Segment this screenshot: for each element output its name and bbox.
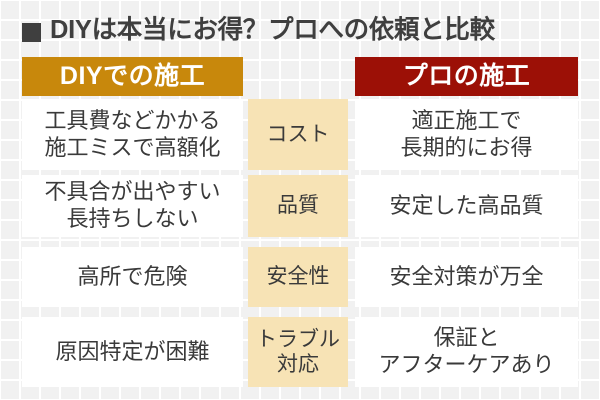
table-row: 原因特定が困難 トラブル 対応 保証と アフターケアあり xyxy=(22,317,578,387)
page-title-text: DIYは本当にお得？プロへの依頼と比較 xyxy=(50,18,495,44)
cell-diy-quality: 不具合が出やすい 長持ちしない xyxy=(22,175,243,237)
table-row: 不具合が出やすい 長持ちしない 品質 安定した高品質 xyxy=(22,175,578,237)
cell-category-quality: 品質 xyxy=(248,175,348,237)
cell-pro-quality: 安定した高品質 xyxy=(355,175,578,237)
cell-line: アフターケアあり xyxy=(378,352,554,379)
cell-line: 保証と xyxy=(378,325,554,352)
cell-line: トラブル xyxy=(256,327,340,352)
table-row: 高所で危険 安全性 安全対策が万全 xyxy=(22,247,578,307)
comparison-table: 工具費などかかる 施工ミスで高額化 コスト 適正施工で 長期的にお得 不具合が出… xyxy=(22,99,578,392)
cell-line: 安定した高品質 xyxy=(389,193,543,220)
cell-diy-cost: 工具費などかかる 施工ミスで高額化 xyxy=(22,99,243,170)
cell-diy-safety: 高所で危険 xyxy=(22,247,243,307)
cell-line: 品質 xyxy=(277,193,319,218)
column-header-pro: プロの施工 xyxy=(355,57,578,96)
cell-line: 工具費などかかる xyxy=(44,108,220,135)
cell-line: 安全性 xyxy=(267,264,330,289)
square-bullet-icon xyxy=(22,23,41,42)
cell-category-safety: 安全性 xyxy=(248,247,348,307)
cell-line: 適正施工で xyxy=(400,108,532,135)
cell-line: 高所で危険 xyxy=(77,264,187,291)
cell-category-trouble: トラブル 対応 xyxy=(248,317,348,387)
cell-line: コスト xyxy=(267,122,330,147)
column-header-pro-label: プロの施工 xyxy=(403,64,531,89)
cell-line: 長持ちしない xyxy=(44,206,220,233)
cell-line: 長期的にお得 xyxy=(400,135,532,162)
cell-diy-trouble: 原因特定が困難 xyxy=(22,317,243,387)
cell-line: 施工ミスで高額化 xyxy=(44,135,220,162)
cell-category-cost: コスト xyxy=(248,99,348,170)
column-header-diy: DIYでの施工 xyxy=(22,57,243,96)
cell-pro-cost: 適正施工で 長期的にお得 xyxy=(355,99,578,170)
cell-line: 不具合が出やすい xyxy=(44,179,220,206)
cell-line: 原因特定が困難 xyxy=(55,339,209,366)
table-row: 工具費などかかる 施工ミスで高額化 コスト 適正施工で 長期的にお得 xyxy=(22,99,578,170)
page-title: DIYは本当にお得？プロへの依頼と比較 xyxy=(22,11,578,51)
column-header-diy-label: DIYでの施工 xyxy=(60,64,205,89)
cell-line: 対応 xyxy=(256,352,340,377)
cell-pro-trouble: 保証と アフターケアあり xyxy=(355,317,578,387)
cell-pro-safety: 安全対策が万全 xyxy=(355,247,578,307)
cell-line: 安全対策が万全 xyxy=(389,264,543,291)
